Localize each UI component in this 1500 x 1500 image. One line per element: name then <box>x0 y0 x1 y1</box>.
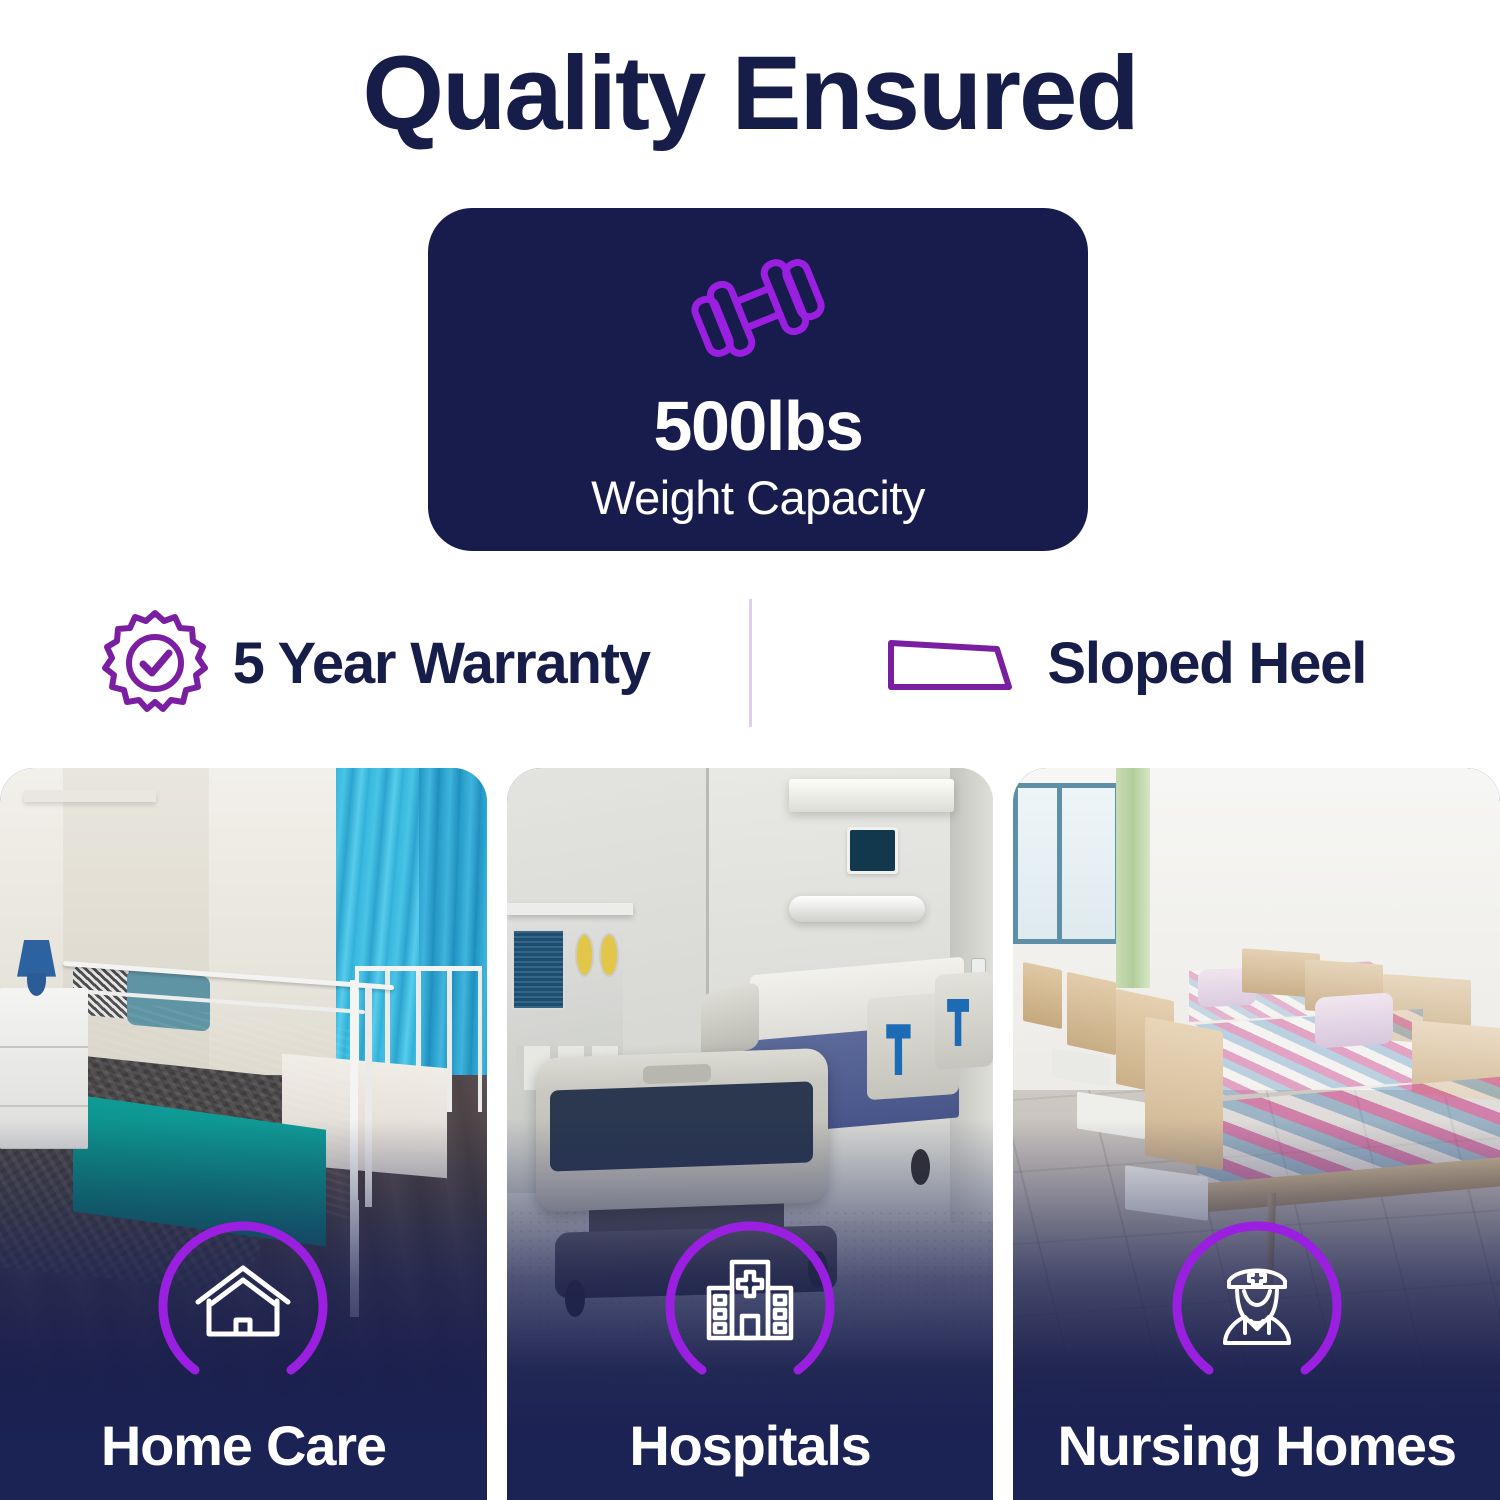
panel-hospitals[interactable]: Hospitals <box>507 768 994 1500</box>
panel-nursing-homes-label: Nursing Homes <box>1013 1413 1500 1478</box>
feature-sloped-heel-label: Sloped Heel <box>1047 630 1366 697</box>
panel-hospitals-label: Hospitals <box>507 1413 994 1478</box>
nurse-icon-wrap <box>1207 1251 1307 1351</box>
weight-capacity-label: Weight Capacity <box>428 470 1088 525</box>
sloped-wedge-icon <box>885 627 1025 699</box>
page-title: Quality Ensured <box>0 34 1500 155</box>
panel-nursing-homes-badge <box>1166 1210 1348 1392</box>
weight-capacity-value: 500lbs <box>428 386 1088 466</box>
use-case-panels: Home Care <box>0 768 1500 1500</box>
feature-warranty-label: 5 Year Warranty <box>233 630 650 697</box>
dumbbell-icon <box>690 250 826 366</box>
panel-home-care-badge <box>152 1210 334 1392</box>
feature-warranty: 5 Year Warranty <box>0 607 749 719</box>
panel-hospitals-badge <box>659 1210 841 1392</box>
panel-home-care[interactable]: Home Care <box>0 768 487 1500</box>
hospital-icon-wrap <box>700 1251 800 1351</box>
nurse-icon <box>1211 1255 1303 1347</box>
panel-home-care-label: Home Care <box>0 1413 487 1478</box>
dumbbell-icon-wrap <box>428 250 1088 366</box>
house-icon-wrap <box>193 1251 293 1351</box>
feature-sloped-heel: Sloped Heel <box>752 627 1500 699</box>
house-icon <box>195 1262 291 1340</box>
weight-capacity-card: 500lbs Weight Capacity <box>428 208 1088 551</box>
panel-nursing-homes[interactable]: Nursing Homes <box>1013 768 1500 1500</box>
warranty-seal-icon <box>99 607 211 719</box>
feature-row: 5 Year Warranty Sloped Heel <box>0 598 1500 728</box>
hospital-icon <box>705 1258 795 1344</box>
